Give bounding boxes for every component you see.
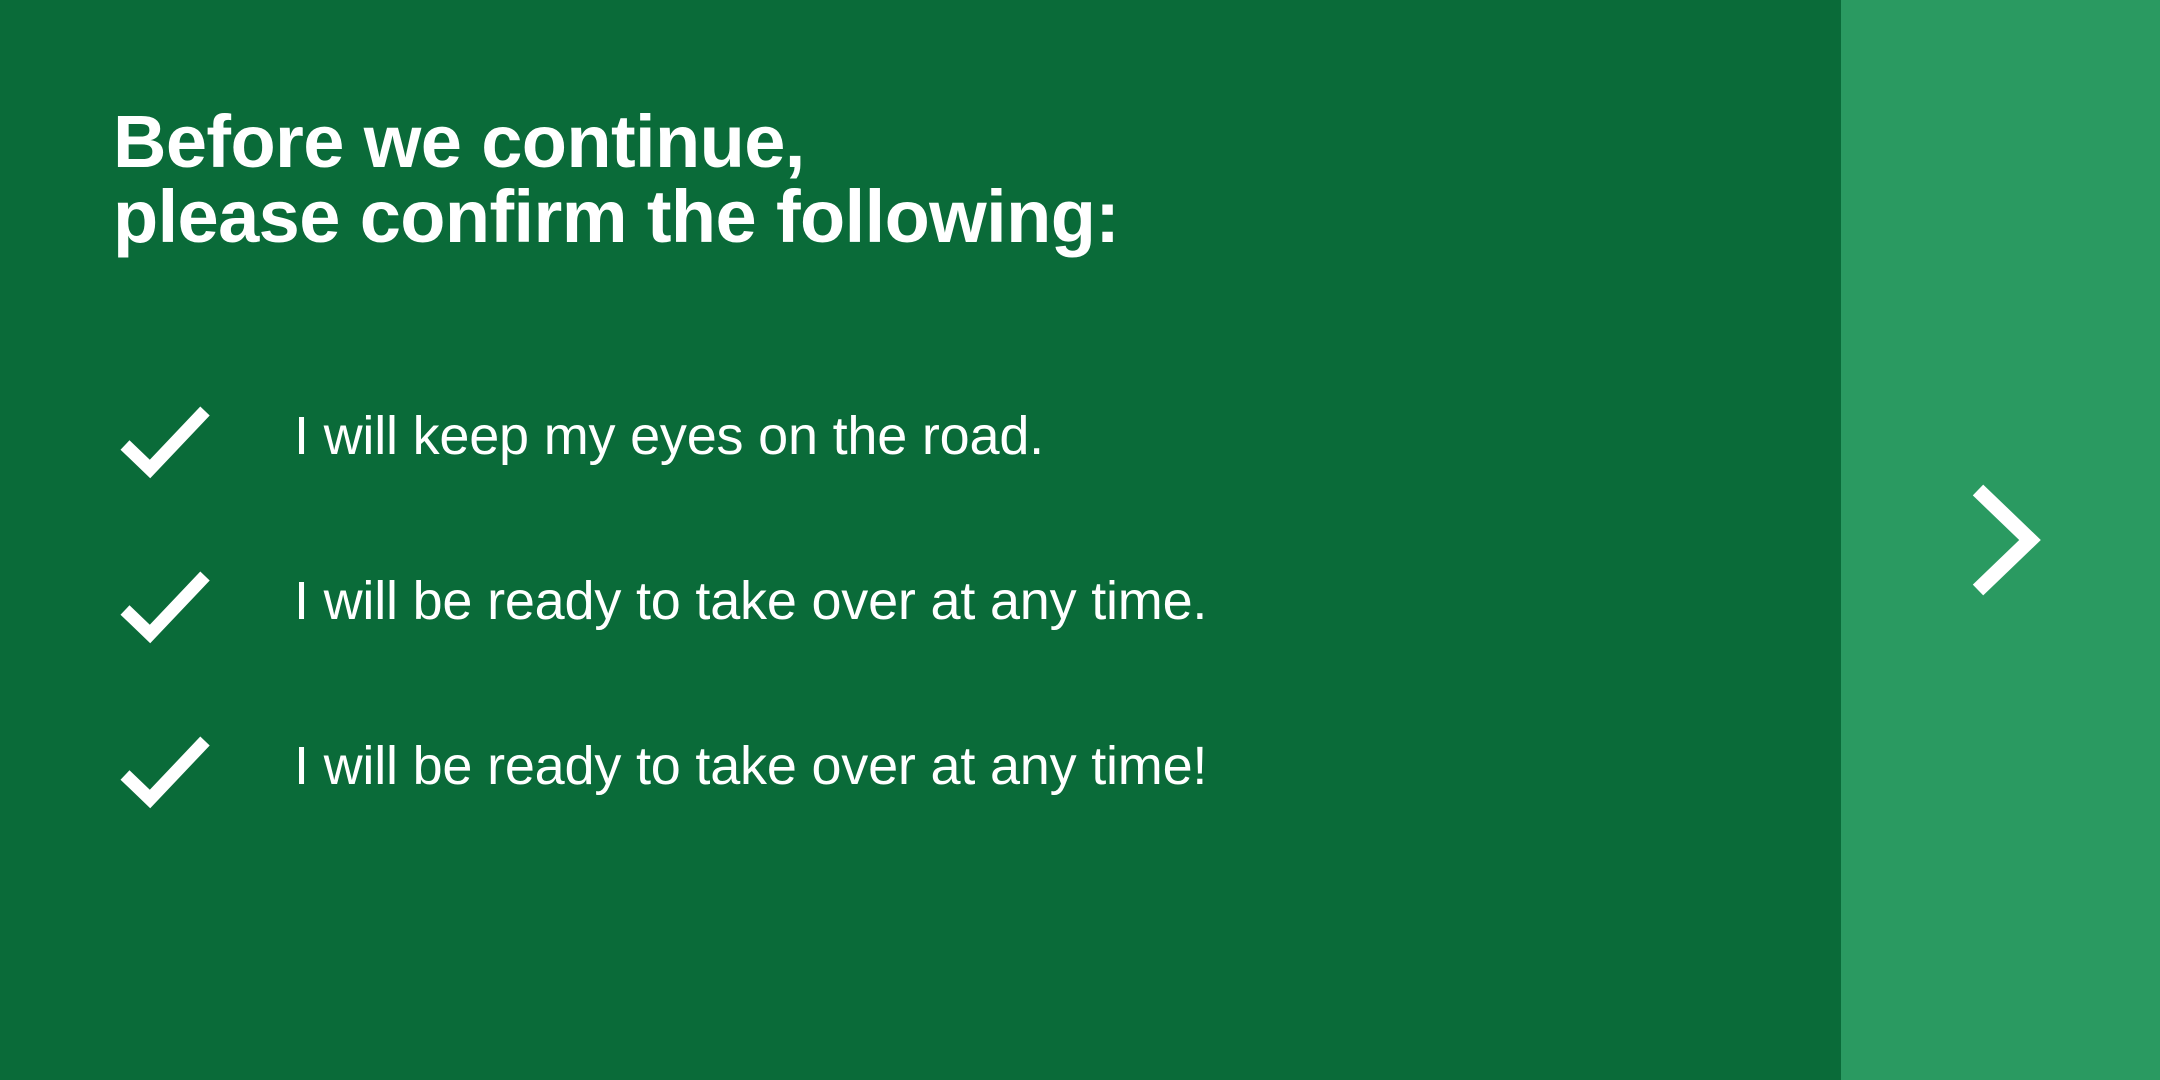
page-title-line-2: please confirm the following: [113, 179, 1119, 254]
next-button[interactable] [1841, 0, 2160, 1080]
checklist-item-label: I will be ready to take over at any time… [294, 726, 1713, 793]
checklist-item-label: I will be ready to take over at any time… [294, 561, 1713, 628]
chevron-right-icon [1965, 482, 2043, 598]
checklist-item-label: I will keep my eyes on the road. [294, 396, 1713, 463]
confirmation-checklist: I will keep my eyes on the road. I will … [113, 396, 1713, 891]
main-panel: Before we continue, please confirm the f… [0, 0, 1841, 1080]
check-icon [119, 728, 211, 820]
page-title-line-1: Before we continue, [113, 104, 1119, 179]
checklist-item[interactable]: I will be ready to take over at any time… [113, 561, 1713, 726]
check-icon [119, 398, 211, 490]
confirmation-screen: Before we continue, please confirm the f… [0, 0, 2160, 1080]
check-icon [119, 563, 211, 655]
checklist-item[interactable]: I will keep my eyes on the road. [113, 396, 1713, 561]
next-panel [1841, 0, 2160, 1080]
page-title: Before we continue, please confirm the f… [113, 104, 1119, 255]
checklist-item[interactable]: I will be ready to take over at any time… [113, 726, 1713, 891]
